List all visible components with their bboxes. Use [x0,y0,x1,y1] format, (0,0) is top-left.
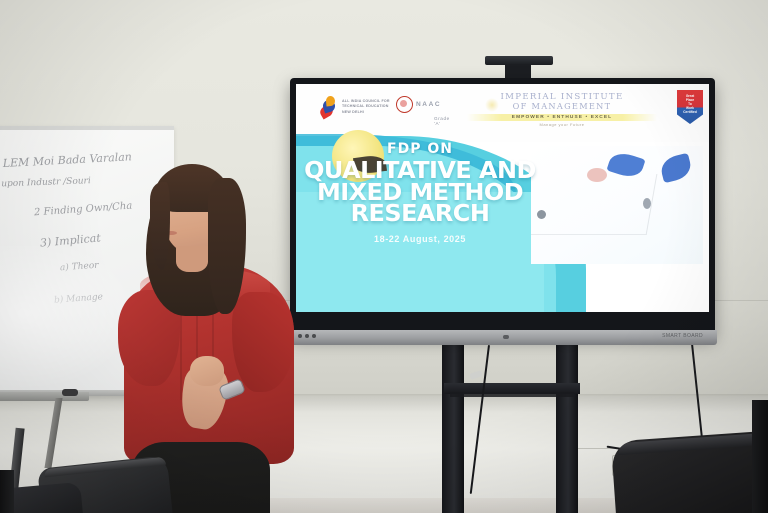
slide-photo [531,146,703,264]
photo-element-2 [659,153,694,184]
photo-fold [531,174,657,235]
whiteboard-note-line-2: ve upon Industr /Souri [0,176,91,190]
stand-post-right [556,345,578,513]
left-foreground-shadow [0,470,14,513]
bezel-indicator-dots [298,334,316,338]
slide-logo-row: ALL INDIA COUNCIL FOR TECHNICAL EDUCATIO… [296,84,709,140]
institute-tagline: EMPOWER • ENTHUSE • EXCEL [467,114,657,121]
stand-post-left [442,345,464,513]
ir-sensor-icon [503,335,509,339]
display-brand-label: SMART BOARD [662,333,703,339]
aicte-logo: ALL INDIA COUNCIL FOR TECHNICAL EDUCATIO… [318,96,390,118]
whiteboard-marker [62,389,78,396]
naac-label: NAAC [416,101,441,108]
display-bottom-bezel[interactable]: SMART BOARD [288,330,717,345]
presenter-neck [176,246,208,272]
right-foreground-shadow [752,400,768,513]
presenter-hand-right [190,356,224,386]
photo-element-3 [587,168,607,182]
accreditation-badge: Great Place To Work Certified [677,90,703,124]
naac-grade: Grade 'A' [434,116,450,126]
institute-logo: IMPERIAL INSTITUTE OF MANAGEMENT EMPOWER… [467,92,657,127]
stand-shelf [450,392,574,397]
camera-mount [505,64,531,79]
slide-title-line-3: RESEARCH [296,204,549,226]
badge-certified-label: Certified [683,110,697,114]
institute-name-line-2: OF MANAGEMENT [467,102,657,112]
naac-seal-icon [396,96,413,113]
blouse-pleat-1 [180,310,182,400]
display-screen[interactable]: ALL INDIA COUNCIL FOR TECHNICAL EDUCATIO… [296,84,709,312]
slide-date: 18-22 August, 2025 [296,235,544,244]
photo-element-5 [643,198,651,209]
slide-eyebrow: FDP ON [296,142,544,156]
interactive-flat-panel[interactable]: ALL INDIA COUNCIL FOR TECHNICAL EDUCATIO… [290,78,715,336]
slide-title-block: FDP ON QUALITATIVE AND MIXED METHOD RESE… [296,142,544,244]
aicte-flame-icon [318,96,338,118]
presenter-sleeve-right [232,292,294,392]
institute-subtitle: Manage your Future [467,122,657,127]
presentation-slide: ALL INDIA COUNCIL FOR TECHNICAL EDUCATIO… [296,84,709,312]
whiteboard-frame-top [0,126,174,130]
aicte-logo-text: ALL INDIA COUNCIL FOR TECHNICAL EDUCATIO… [342,99,390,115]
naac-logo: NAAC Grade 'A' [396,96,441,113]
slide-title: QUALITATIVE AND MIXED METHOD RESEARCH [296,161,544,226]
classroom-photo-scene: + LEM Moi Bada Varalan ve upon Industr /… [0,0,768,513]
